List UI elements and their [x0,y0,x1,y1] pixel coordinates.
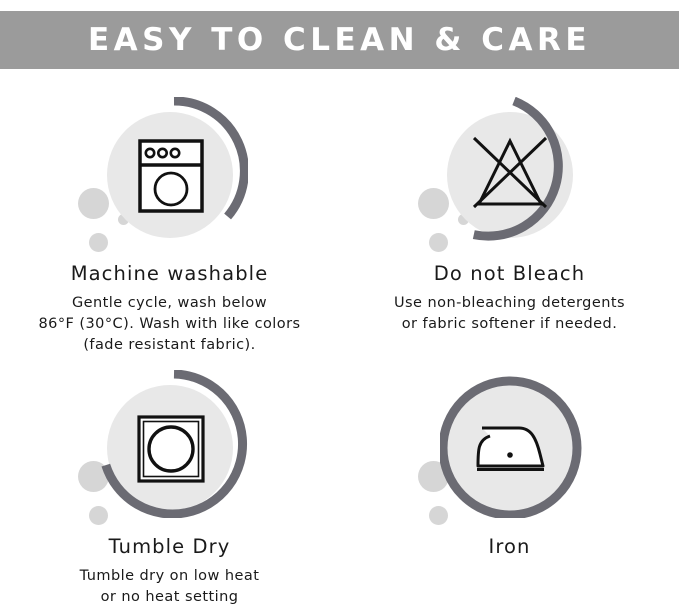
card-text-tumble-dry: Tumble Dry Tumble dry on low heat or no … [0,535,339,608]
tumble-dry-badge [100,370,248,518]
card-title: Machine washable [0,262,339,285]
card-title: Iron [340,535,679,558]
care-card-do-not-bleach: Do not Bleach Use non-bleaching detergen… [340,80,679,335]
badge-machine-washable [0,80,339,262]
card-text-machine-washable: Machine washable Gentle cycle, wash belo… [0,262,339,356]
badge-do-not-bleach [340,80,679,262]
card-body: Use non-bleaching detergents or fabric s… [340,293,679,335]
tumble-dry-icon [139,417,203,481]
iron-badge [440,370,588,518]
care-card-tumble-dry: Tumble Dry Tumble dry on low heat or no … [0,353,339,608]
washing-machine-icon [140,141,202,211]
card-body: Tumble dry on low heat or no heat settin… [0,566,339,608]
card-title: Tumble Dry [0,535,339,558]
card-title: Do not Bleach [340,262,679,285]
do-not-bleach-badge [440,97,588,245]
care-instructions-page: EASY TO CLEAN & CARE [0,0,679,593]
badge-tumble-dry [0,353,339,535]
washing-machine-badge [100,97,248,245]
care-card-iron: Iron [340,353,679,566]
card-body: Gentle cycle, wash below 86°F (30°C). Wa… [0,293,339,356]
card-text-do-not-bleach: Do not Bleach Use non-bleaching detergen… [340,262,679,335]
card-text-iron: Iron [340,535,679,558]
badge-iron [340,353,679,535]
care-card-machine-washable: Machine washable Gentle cycle, wash belo… [0,80,339,356]
page-title: EASY TO CLEAN & CARE [88,25,591,56]
care-card-grid: Machine washable Gentle cycle, wash belo… [0,80,679,593]
header-banner: EASY TO CLEAN & CARE [0,11,679,69]
